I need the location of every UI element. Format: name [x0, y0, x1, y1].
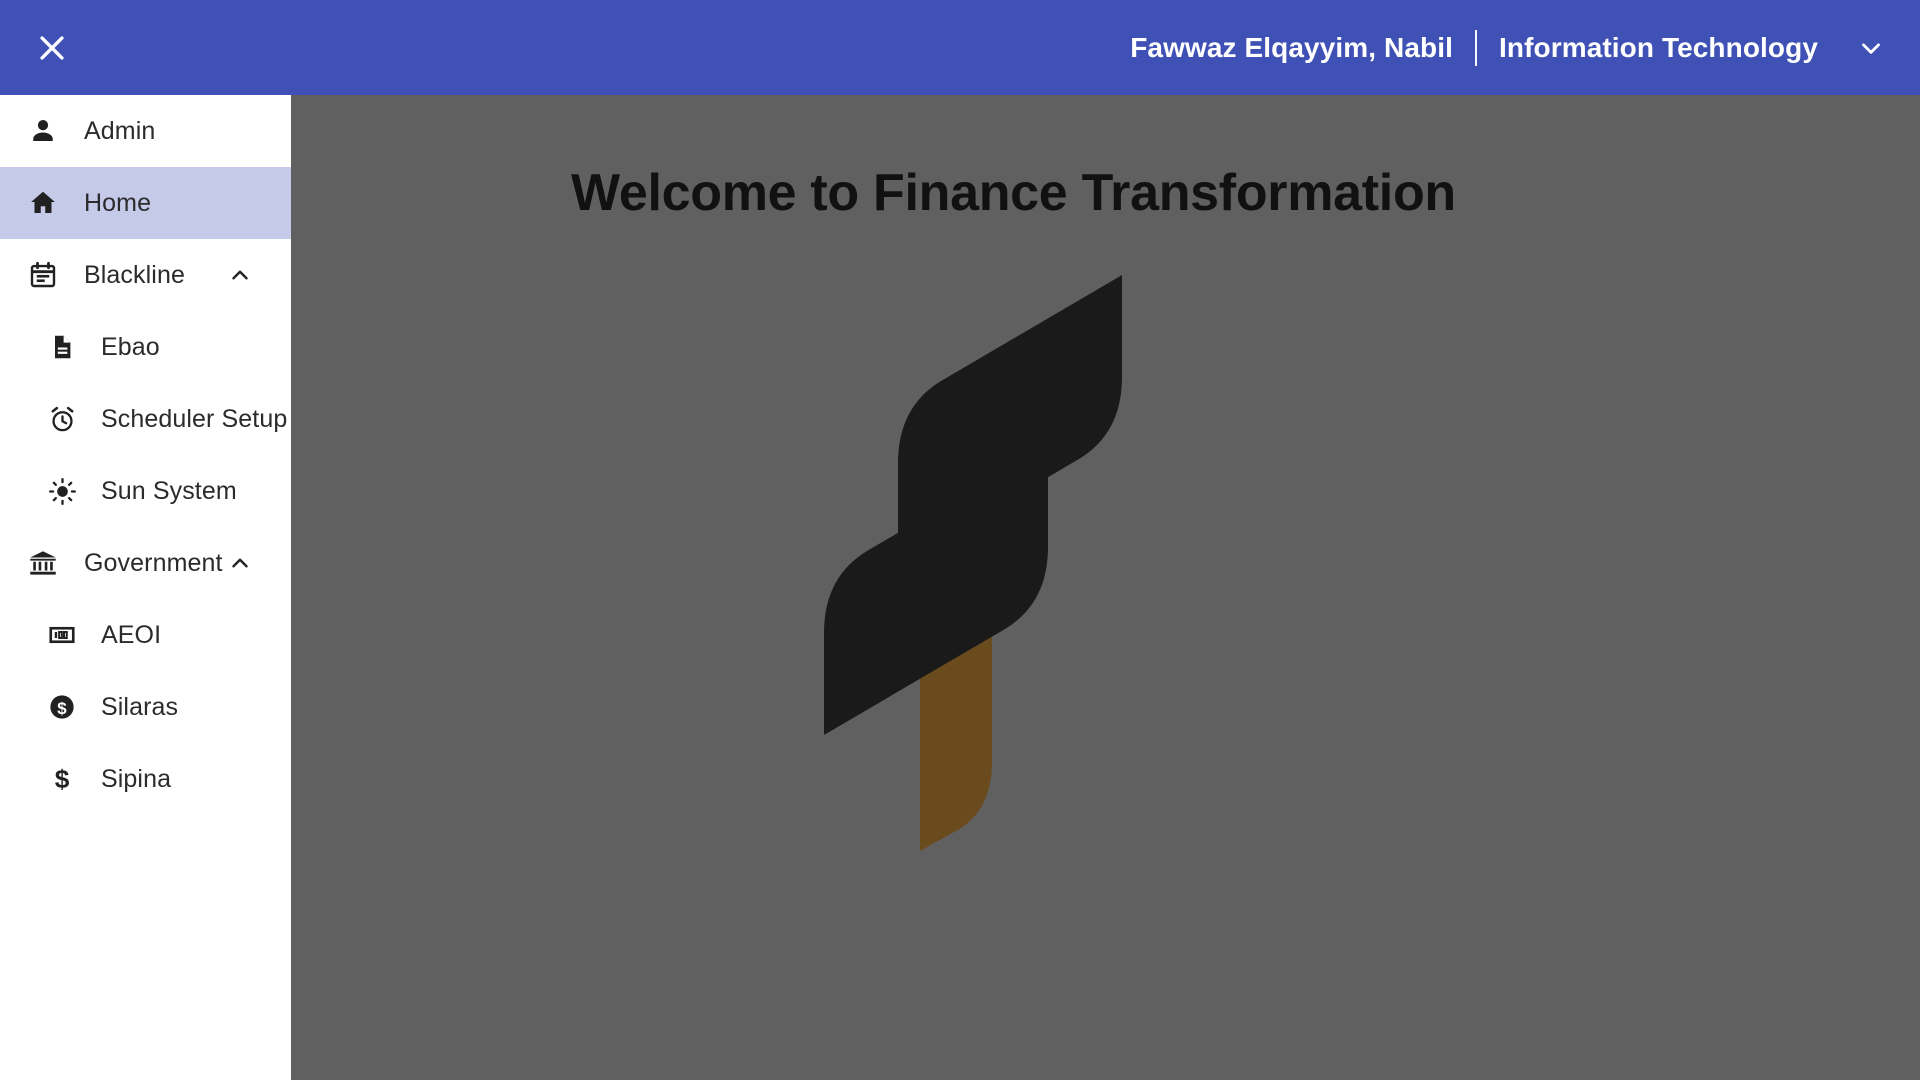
finance-transformation-logo — [796, 265, 1136, 865]
sidebar-item-label: Home — [84, 189, 151, 218]
svg-text:$: $ — [57, 699, 67, 718]
money-100-icon — [45, 618, 79, 652]
app-root: Fawwaz Elqayyim, Nabil Information Techn… — [0, 0, 1920, 1080]
sidebar-item-aeoi[interactable]: AEOI — [0, 599, 291, 671]
chevron-up-icon[interactable] — [227, 262, 253, 288]
dollar-sign-icon: $ — [45, 762, 79, 796]
sidebar-item-sun-system[interactable]: Sun System — [0, 455, 291, 527]
close-icon[interactable] — [22, 18, 82, 78]
sidebar-item-admin[interactable]: Admin — [0, 95, 291, 167]
sidebar-item-silaras[interactable]: $ Silaras — [0, 671, 291, 743]
alarm-icon — [45, 402, 79, 436]
sidebar-item-label: Government — [84, 549, 223, 578]
sidebar-item-blackline[interactable]: Blackline — [0, 239, 291, 311]
header-department: Information Technology — [1499, 32, 1818, 64]
main-content-area: Welcome to Finance Transformation — [291, 95, 1920, 1080]
header-user-name: Fawwaz Elqayyim, Nabil — [1130, 32, 1453, 64]
svg-text:$: $ — [55, 764, 70, 794]
sidebar-item-sipina[interactable]: $ Sipina — [0, 743, 291, 815]
sidebar-item-home[interactable]: Home — [0, 167, 291, 239]
calendar-icon — [26, 258, 60, 292]
sidebar-item-label: Blackline — [84, 261, 185, 290]
sidebar-navigation: Admin Home Blac — [0, 95, 291, 1080]
chevron-down-icon[interactable] — [1856, 33, 1886, 63]
sidebar-item-scheduler-setup[interactable]: Scheduler Setup — [0, 383, 291, 455]
sidebar-item-label: Sun System — [101, 477, 237, 506]
person-icon — [26, 114, 60, 148]
bank-icon — [26, 546, 60, 580]
sidebar-item-label: Sipina — [101, 765, 171, 794]
sidebar-item-label: AEOI — [101, 621, 161, 650]
document-icon — [45, 330, 79, 364]
sidebar-item-ebao[interactable]: Ebao — [0, 311, 291, 383]
header-user-section: Fawwaz Elqayyim, Nabil Information Techn… — [1130, 30, 1920, 66]
dollar-coin-icon: $ — [45, 690, 79, 724]
sun-icon — [45, 474, 79, 508]
sidebar-item-government[interactable]: Government — [0, 527, 291, 599]
sidebar-item-label: Ebao — [101, 333, 160, 362]
sidebar-item-label: Scheduler Setup — [101, 405, 287, 434]
top-header-bar: Fawwaz Elqayyim, Nabil Information Techn… — [0, 0, 1920, 95]
home-icon — [26, 186, 60, 220]
page-title: Welcome to Finance Transformation — [571, 163, 1456, 223]
chevron-up-icon[interactable] — [227, 550, 253, 576]
sidebar-item-label: Admin — [84, 117, 155, 146]
sidebar-item-label: Silaras — [101, 693, 178, 722]
header-divider — [1475, 30, 1477, 66]
